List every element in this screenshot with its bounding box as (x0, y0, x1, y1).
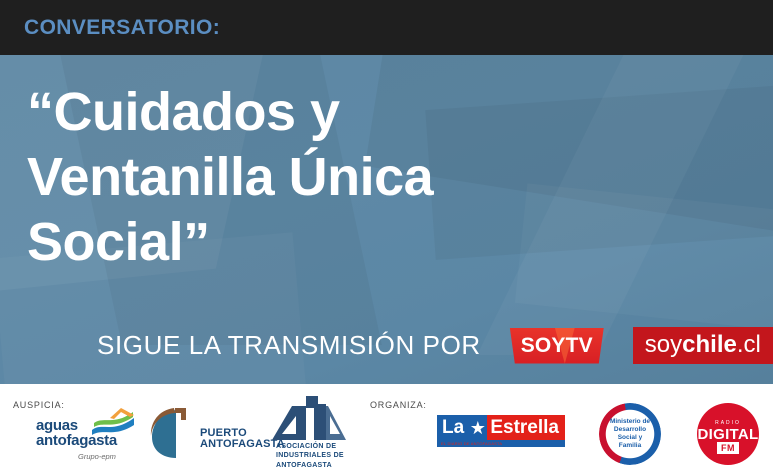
la-estrella-estrella: Estrella (487, 415, 565, 440)
soychile-logo[interactable]: soychile.cl (633, 327, 773, 364)
hero-title: “Cuidados y Ventanilla Única Social” (27, 80, 627, 274)
digital-fm-badge: FM (717, 442, 739, 454)
soytv-soy: SOY (521, 334, 566, 358)
asociacion-line-2: INDUSTRIALES DE (276, 451, 344, 460)
aguas-tagline: Grupo-epm (78, 452, 116, 461)
conversatorio-label: CONVERSATORIO: (24, 16, 220, 40)
ministerio-line-1: Ministerio de (610, 418, 650, 426)
la-estrella-wordmark: La ★ Estrella (437, 415, 565, 440)
soychile-chile: chile (682, 331, 737, 358)
ministerio-line-2: Desarrollo (614, 426, 646, 434)
aguas-line-2: antofagasta (36, 434, 117, 449)
la-estrella-subbar: EL DIARIO DE ANTOFAGASTA (437, 440, 565, 447)
sponsor-asociacion-industriales[interactable]: ASOCIACIÓN DE INDUSTRIALES DE ANTOFAGAST… (258, 396, 368, 470)
la-estrella-subbar-text: EL DIARIO DE ANTOFAGASTA (441, 440, 502, 447)
sponsor-puerto-antofagasta[interactable]: PUERTO ANTOFAGASTA (148, 406, 253, 466)
promo-banner: CONVERSATORIO: “Cuidados y Ventanilla Ún… (0, 0, 773, 472)
organiza-label: ORGANIZA: (370, 400, 427, 410)
aguas-wordmark: aguas antofagasta (36, 419, 117, 448)
puerto-mark-icon (148, 406, 196, 462)
soytv-logo[interactable]: SOYTV (507, 328, 607, 364)
header-bar: CONVERSATORIO: (0, 0, 773, 55)
organizer-ministerio-desarrollo-social[interactable]: Ministerio de Desarrollo Social y Famili… (599, 403, 661, 465)
star-glyph: ★ (470, 419, 486, 437)
organizer-radio-digital-fm[interactable]: RADIO DIGITAL FM (697, 403, 759, 465)
sponsor-aguas-antofagasta[interactable]: aguas antofagasta Grupo-epm (36, 408, 136, 466)
hero-title-line-3: Social” (27, 210, 627, 275)
la-estrella-la: La (437, 415, 468, 440)
organizer-la-estrella[interactable]: La ★ Estrella EL DIARIO DE ANTOFAGASTA (437, 415, 565, 449)
soychile-soy: soy (645, 331, 682, 358)
broadcast-row: SIGUE LA TRANSMISIÓN POR SOYTV soychile.… (97, 327, 773, 364)
soytv-tv: TV (566, 334, 593, 358)
soytv-wordmark: SOYTV (507, 328, 607, 364)
star-icon: ★ (468, 415, 487, 440)
ministerio-line-3: Social y (618, 434, 643, 442)
ministerio-line-4: Familia (619, 442, 641, 450)
asociacion-line-3: ANTOFAGASTA (276, 461, 344, 470)
asociacion-mark-icon (270, 396, 350, 440)
hero-title-line-2: Ventanilla Única (27, 145, 627, 210)
footer-sponsors: AUSPICIA: ORGANIZA: aguas antofagasta Gr… (0, 384, 773, 472)
ministerio-wordmark: Ministerio de Desarrollo Social y Famili… (599, 403, 661, 465)
hero-title-line-1: “Cuidados y (27, 80, 627, 145)
asociacion-line-1: ASOCIACIÓN DE (276, 442, 344, 451)
broadcast-label: SIGUE LA TRANSMISIÓN POR (97, 330, 481, 361)
asociacion-wordmark: ASOCIACIÓN DE INDUSTRIALES DE ANTOFAGAST… (276, 442, 344, 470)
hero-section: “Cuidados y Ventanilla Única Social” SIG… (0, 55, 773, 384)
digital-wordmark: DIGITAL (697, 426, 759, 443)
soychile-tld: .cl (737, 331, 761, 358)
